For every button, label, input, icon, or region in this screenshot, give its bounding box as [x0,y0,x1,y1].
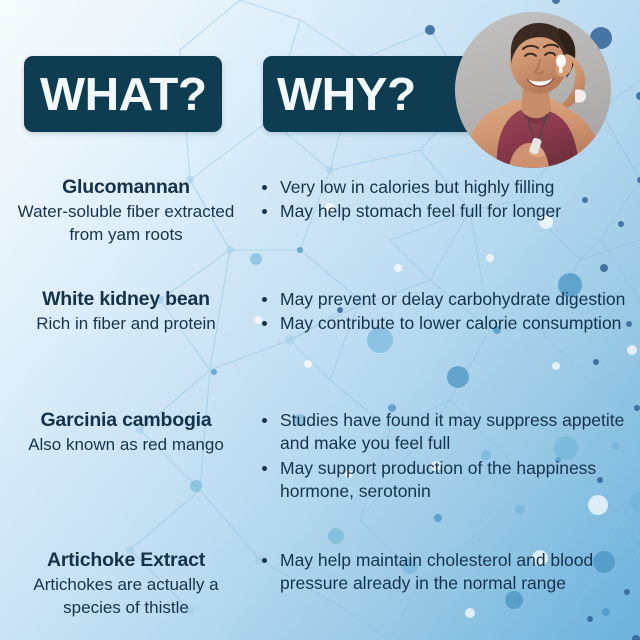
benefit-block-1: May prevent or delay carbohydrate digest… [258,288,640,337]
ingredient-block-3: Artichoke Extract Artichokes are actuall… [0,549,252,620]
benefit-list: Very low in calories but highly filling … [258,176,640,224]
ingredient-description: Also known as red mango [0,434,252,457]
ingredient-name: White kidney bean [0,288,252,311]
ingredient-description: Rich in fiber and protein [0,313,252,336]
benefit-list: Studies have found it may suppress appet… [258,409,640,504]
benefit-block-0: Very low in calories but highly filling … [258,176,640,225]
benefit-block-3: May help maintain cholesterol and blood … [258,549,640,597]
benefit-item: Studies have found it may suppress appet… [258,409,640,456]
benefit-item: May support production of the happiness … [258,457,640,504]
ingredient-name: Artichoke Extract [0,549,252,572]
benefit-block-2: Studies have found it may suppress appet… [258,409,640,505]
benefit-item: May help maintain cholesterol and blood … [258,549,640,596]
benefit-list: May help maintain cholesterol and blood … [258,549,640,596]
benefit-list: May prevent or delay carbohydrate digest… [258,288,640,336]
ingredient-benefits-infographic: WHY? WHAT? [0,0,640,640]
ingredient-block-1: White kidney bean Rich in fiber and prot… [0,288,252,336]
benefit-item: May prevent or delay carbohydrate digest… [258,288,640,311]
ingredient-block-2: Garcinia cambogia Also known as red mang… [0,409,252,457]
ingredient-name: Glucomannan [0,176,252,199]
benefit-item: Very low in calories but highly filling [258,176,640,199]
ingredient-name: Garcinia cambogia [0,409,252,432]
what-header-box: WHAT? [24,56,222,132]
benefit-item: May help stomach feel full for longer [258,200,640,223]
lifestyle-photo [455,12,611,168]
ingredient-description: Water-soluble fiber extracted from yam r… [0,201,252,246]
benefit-item: May contribute to lower calorie consumpt… [258,312,640,335]
why-header-label: WHY? [277,71,416,117]
ingredient-block-0: Glucomannan Water-soluble fiber extracte… [0,176,252,247]
ingredient-description: Artichokes are actually a species of thi… [0,574,252,619]
what-header-label: WHAT? [40,71,207,117]
